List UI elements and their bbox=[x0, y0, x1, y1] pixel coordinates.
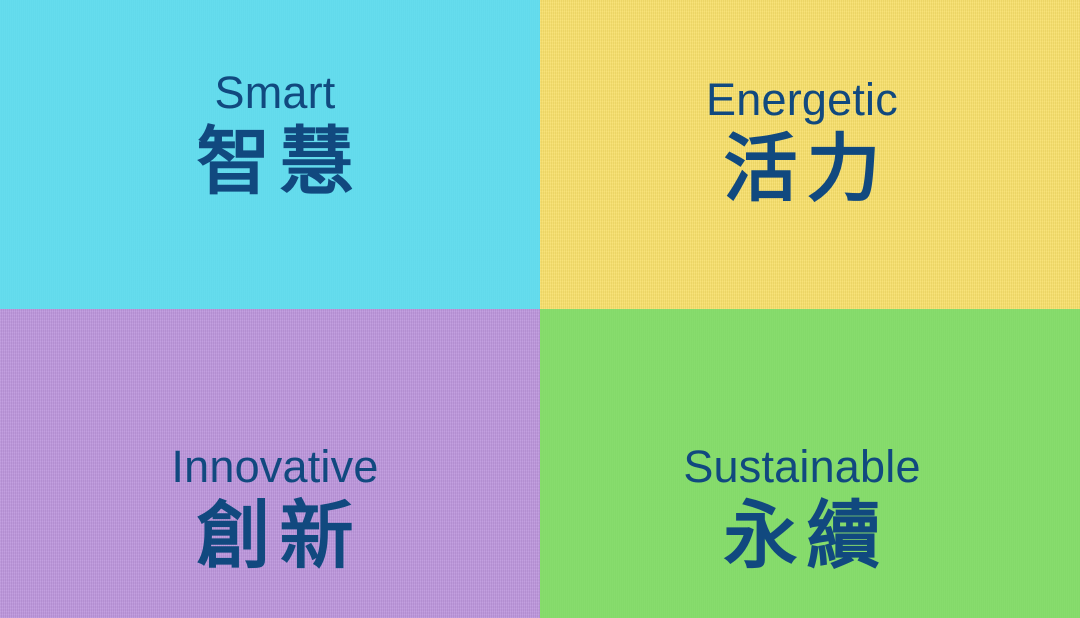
quadrant-smart: Smart 智慧 bbox=[0, 0, 540, 309]
label-block-smart: Smart 智慧 bbox=[188, 70, 363, 201]
label-en-smart: Smart bbox=[188, 70, 363, 115]
brand-values-graphic: Smart 智慧 Energetic 活力 Innovative 創新 Sust… bbox=[0, 0, 1080, 618]
label-zh-sustainable: 永續 bbox=[683, 498, 920, 575]
label-block-energetic: Energetic 活力 bbox=[706, 77, 898, 208]
label-en-sustainable: Sustainable bbox=[683, 444, 920, 489]
label-block-innovative: Innovative 創新 bbox=[171, 444, 378, 575]
label-en-innovative: Innovative bbox=[171, 444, 378, 489]
label-zh-energetic: 活力 bbox=[706, 131, 898, 208]
label-block-sustainable: Sustainable 永續 bbox=[683, 444, 920, 575]
quadrant-innovative: Innovative 創新 bbox=[0, 309, 540, 618]
label-zh-smart: 智慧 bbox=[188, 124, 363, 201]
quadrant-grid: Smart 智慧 Energetic 活力 Innovative 創新 Sust… bbox=[0, 0, 1080, 618]
quadrant-sustainable: Sustainable 永續 bbox=[540, 309, 1080, 618]
quadrant-energetic: Energetic 活力 bbox=[540, 0, 1080, 309]
label-en-energetic: Energetic bbox=[706, 77, 898, 122]
label-zh-innovative: 創新 bbox=[171, 498, 378, 575]
